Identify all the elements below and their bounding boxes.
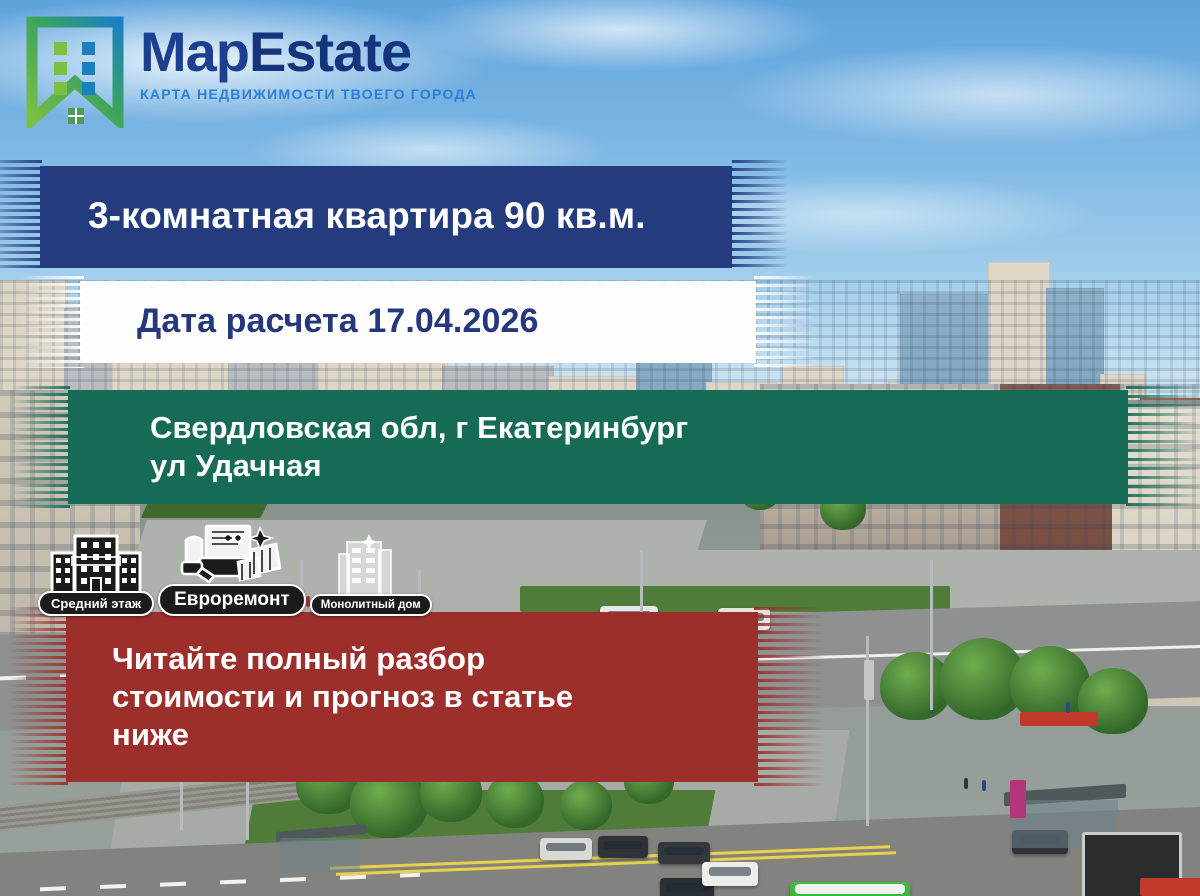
badge-renovation-label: Евроремонт (158, 584, 306, 616)
brand-name-light: Map (140, 20, 249, 83)
brand-name-dark: Estate (249, 20, 411, 83)
property-promo-poster: MapEstate КАРТА НЕДВИЖИМОСТИ ТВОЕГО ГОРО… (0, 0, 1200, 896)
brand-logo[interactable]: MapEstate КАРТА НЕДВИЖИМОСТИ ТВОЕГО ГОРО… (24, 16, 477, 128)
badge-house-type-label: Монолитный дом (310, 594, 432, 616)
address-text: Свердловская обл, г Екатеринбург ул Удач… (150, 409, 688, 485)
badge-floor-label: Средний этаж (38, 591, 154, 616)
title-banner: 3-комнатная квартира 90 кв.м. (16, 160, 758, 272)
address-banner: Свердловская обл, г Екатеринбург ул Удач… (46, 386, 1158, 508)
feature-badges: Средний этаж (38, 518, 432, 616)
brand-tagline: КАРТА НЕДВИЖИМОСТИ ТВОЕГО ГОРОДА (140, 87, 477, 103)
brand-wordmark: MapEstate КАРТА НЕДВИЖИМОСТИ ТВОЕГО ГОРО… (140, 16, 477, 103)
city-bus (790, 882, 910, 896)
monolithic-building-icon (319, 534, 423, 600)
title-text: 3-комнатная квартира 90 кв.м. (88, 193, 646, 238)
cta-banner: Читайте полный разбор стоимости и прогно… (44, 607, 784, 787)
badge-floor: Средний этаж (38, 531, 154, 616)
apartment-building-icon (44, 531, 148, 597)
bookmark-building-logo-icon (24, 16, 126, 128)
brand-name: MapEstate (140, 24, 477, 80)
cta-text: Читайте полный разбор стоимости и прогно… (112, 640, 573, 753)
renovation-tools-icon (176, 518, 288, 590)
date-banner: Дата расчета 17.04.2026 (60, 276, 780, 368)
date-text: Дата расчета 17.04.2026 (137, 301, 539, 342)
badge-renovation: Евроремонт (158, 518, 306, 616)
badge-house-type: Монолитный дом (310, 534, 432, 616)
